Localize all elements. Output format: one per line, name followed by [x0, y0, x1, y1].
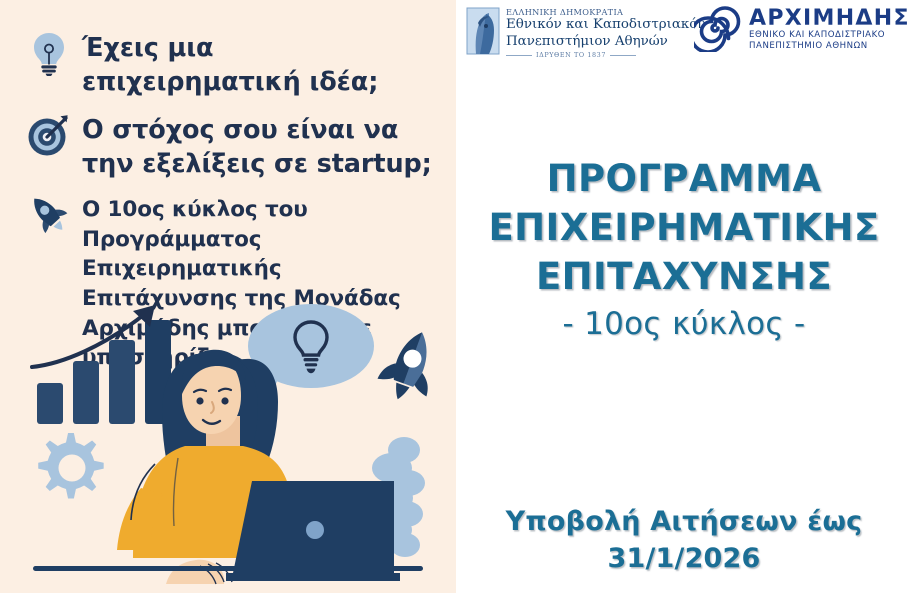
athena-emblem-icon	[466, 7, 500, 59]
title-line-2: ΕΠΙΧΕΙΡΗΜΑΤΙΚΗΣ	[456, 204, 912, 253]
desk-line	[33, 566, 423, 571]
rocket-icon	[26, 192, 72, 238]
bullet-item-idea: Έχεις μια επιχειρηματική ιδέα;	[26, 30, 438, 100]
deadline-date: 31/1/2026	[456, 540, 912, 577]
rocket-launch-icon	[373, 323, 446, 408]
title-line-3: ΕΠΙΤΑΧΥΝΣΗΣ	[456, 253, 912, 302]
rule-right	[610, 55, 636, 56]
growth-bar-chart-icon	[32, 305, 171, 424]
target-icon	[26, 112, 72, 158]
bullet-item-idea-label: Έχεις μια επιχειρηματική ιδέα;	[82, 30, 438, 100]
left-info-panel: Έχεις μια επιχειρηματική ιδέα; Ο στόχος …	[0, 0, 456, 593]
hand	[166, 560, 232, 584]
archimedes-sub2: ΠΑΝΕΠΙΣΤΗΜΙΟ ΑΘΗΝΩΝ	[749, 41, 910, 52]
uoa-republic-label: ΕΛΛΗΝΙΚΗ ΔΗΜΟΚΡΑΤΙΑ	[506, 7, 705, 17]
uoa-name-line2: Πανεπιστήμιον Αθηνών	[506, 34, 705, 51]
title-line-1: ΠΡΟΓΡΑΜΜΑ	[456, 155, 912, 204]
page-title: ΠΡΟΓΡΑΜΜΑ ΕΠΙΧΕΙΡΗΜΑΤΙΚΗΣ ΕΠΙΤΑΧΥΝΣΗΣ - …	[456, 155, 912, 348]
uoa-founded: ΙΔΡΥΘΕΝ ΤΟ 1837	[506, 51, 705, 59]
lightbulb-icon	[26, 30, 72, 76]
uoa-name-line1: Εθνικόν και Καποδιστριακόν	[506, 17, 705, 34]
archimedes-sub1: ΕΘΝΙΚΟ ΚΑΙ ΚΑΠΟΔΙΣΤΡΙΑΚΟ	[749, 30, 910, 41]
university-of-athens-logo: ΕΛΛΗΝΙΚΗ ΔΗΜΟΚΡΑΤΙΑ Εθνικόν και Καποδιστ…	[466, 4, 666, 62]
spiral-icon	[694, 4, 742, 56]
gear-icon	[38, 433, 103, 498]
bullet-item-goal: Ο στόχος σου είναι να την εξελίξεις σε s…	[26, 112, 438, 182]
deadline-label: Υποβολή Αιτήσεων έως	[456, 503, 912, 540]
rule-left	[506, 55, 532, 56]
bullet-item-goal-label: Ο στόχος σου είναι να την εξελίξεις σε s…	[82, 112, 438, 182]
archimedes-logo: ΑΡΧΙΜΗΔΗΣ ΕΘΝΙΚΟ ΚΑΙ ΚΑΠΟΔΙΣΤΡΙΑΚΟ ΠΑΝΕΠ…	[694, 3, 906, 57]
archimedes-title: ΑΡΧΙΜΗΔΗΣ	[749, 8, 910, 30]
uoa-founded-label: ΙΔΡΥΘΕΝ ΤΟ 1837	[536, 51, 606, 59]
right-content-panel: ΕΛΛΗΝΙΚΗ ΔΗΜΟΚΡΑΤΙΑ Εθνικόν και Καποδιστ…	[456, 0, 912, 593]
title-cycle-label: - 10ος κύκλος -	[456, 301, 912, 348]
deadline-block: Υποβολή Αιτήσεων έως 31/1/2026	[456, 503, 912, 578]
poster-canvas: Έχεις μια επιχειρηματική ιδέα; Ο στόχος …	[0, 0, 912, 593]
woman-at-laptop-illustration	[0, 298, 456, 593]
